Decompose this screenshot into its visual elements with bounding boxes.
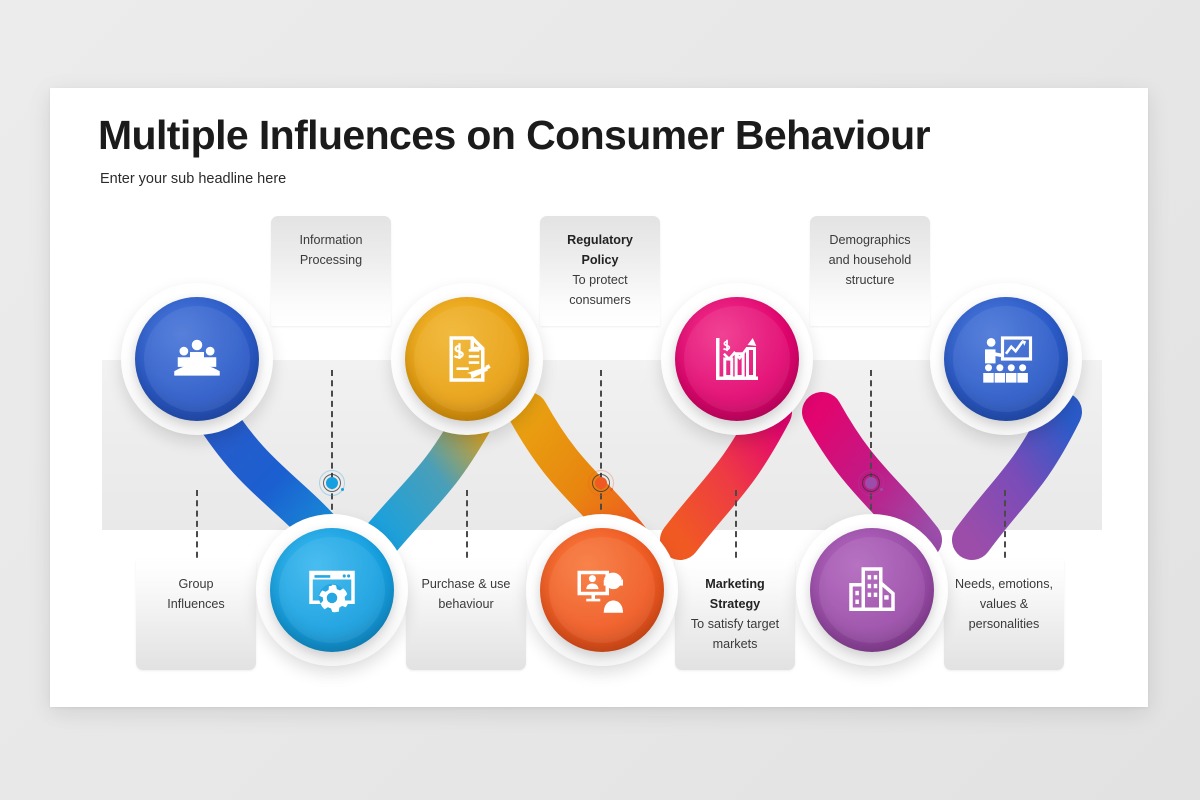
marker-regulatory[interactable] xyxy=(588,470,614,496)
node-information[interactable] xyxy=(405,297,529,421)
card-line: To satisfy target xyxy=(683,614,787,634)
card-headline: Marketing Strategy xyxy=(683,574,787,614)
card-marketing-strategy[interactable]: Marketing Strategy To satisfy target mar… xyxy=(675,560,795,670)
marker-core xyxy=(595,477,607,489)
slide-canvas: Multiple Influences on Consumer Behaviou… xyxy=(50,88,1148,707)
card-headline: Regulatory Policy xyxy=(548,230,652,270)
card-line: To protect xyxy=(548,270,652,290)
browser-gear-icon xyxy=(304,562,360,618)
card-needs-emotions[interactable]: Needs, emotions, values & personalities xyxy=(944,560,1064,670)
node-needs[interactable] xyxy=(944,297,1068,421)
presentation-training-icon xyxy=(978,331,1034,387)
card-line: structure xyxy=(818,270,922,290)
card-line: Influences xyxy=(144,594,248,614)
video-support-icon xyxy=(574,562,630,618)
node-regulatory[interactable] xyxy=(675,297,799,421)
node-demographics[interactable] xyxy=(810,528,934,652)
card-line: behaviour xyxy=(414,594,518,614)
card-line: markets xyxy=(683,634,787,654)
card-line: Demographics xyxy=(818,230,922,250)
node-marketing[interactable] xyxy=(540,528,664,652)
card-line: Purchase & use xyxy=(414,574,518,594)
node-disc xyxy=(675,297,799,421)
card-line: Needs, emotions, xyxy=(952,574,1056,594)
people-group-icon xyxy=(169,331,225,387)
node-disc xyxy=(810,528,934,652)
node-disc xyxy=(270,528,394,652)
stem-information xyxy=(331,370,333,520)
node-disc xyxy=(944,297,1068,421)
marker-core xyxy=(326,477,338,489)
card-line: Group xyxy=(144,574,248,594)
marker-core xyxy=(865,477,877,489)
node-group-influences[interactable] xyxy=(135,297,259,421)
bar-chart-growth-icon xyxy=(709,331,765,387)
card-purchase-use[interactable]: Purchase & use behaviour xyxy=(406,560,526,670)
card-demographics[interactable]: Demographics and household structure xyxy=(810,216,930,326)
card-regulatory-policy[interactable]: Regulatory Policy To protect consumers xyxy=(540,216,660,326)
card-group-influences[interactable]: Group Influences xyxy=(136,560,256,670)
marker-tick xyxy=(880,488,883,491)
card-line: Processing xyxy=(279,250,383,270)
marker-tick xyxy=(610,488,613,491)
stem-demographics xyxy=(870,370,872,520)
marker-tick xyxy=(341,488,344,491)
buildings-icon xyxy=(844,562,900,618)
card-information-processing[interactable]: Information Processing xyxy=(271,216,391,326)
card-line: consumers xyxy=(548,290,652,310)
card-line: values & xyxy=(952,594,1056,614)
card-line: Information xyxy=(279,230,383,250)
stem-regulatory xyxy=(600,370,602,520)
node-disc xyxy=(135,297,259,421)
marker-demographics[interactable] xyxy=(858,470,884,496)
infographic-diagram: Information Processing Regulatory Policy… xyxy=(50,88,1148,707)
node-disc xyxy=(405,297,529,421)
node-purchase-use[interactable] xyxy=(270,528,394,652)
card-line: personalities xyxy=(952,614,1056,634)
invoice-pen-icon xyxy=(439,331,495,387)
marker-information[interactable] xyxy=(319,470,345,496)
card-line: and household xyxy=(818,250,922,270)
node-disc xyxy=(540,528,664,652)
